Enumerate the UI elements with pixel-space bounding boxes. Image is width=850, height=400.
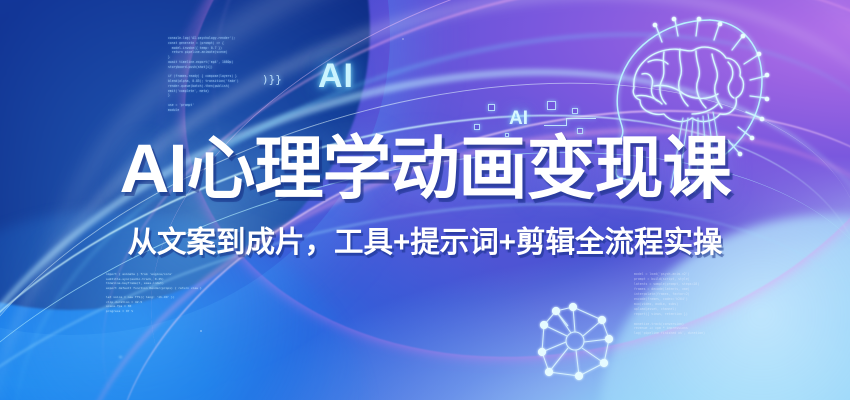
page-title: AI心理学动画变现课 [0, 134, 850, 203]
page-subtitle: 从文案到成片，工具+提示词+剪辑全流程实操 [0, 219, 850, 261]
course-promo-banner: console.log('AI-psychology-render'); con… [0, 0, 850, 400]
headline-group: AI心理学动画变现课 从文案到成片，工具+提示词+剪辑全流程实操 [0, 0, 850, 400]
